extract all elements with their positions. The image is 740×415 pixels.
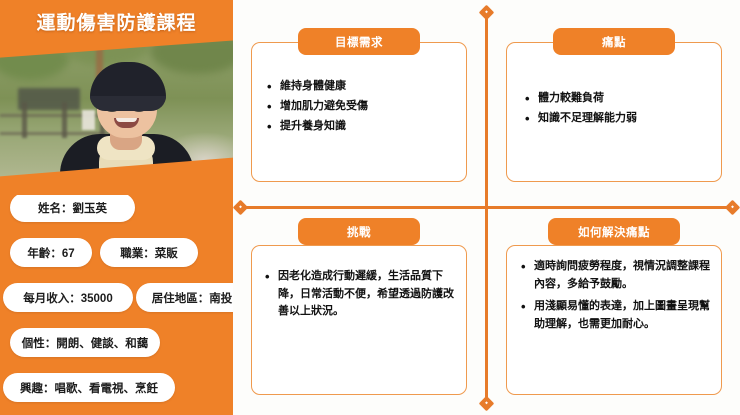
card-header-goals: 目標需求 — [298, 28, 420, 55]
persona-photo — [0, 40, 233, 195]
diamond-marker-top-icon — [479, 5, 495, 21]
card-body-goals: 維持身體健康 增加肌力避免受傷 提升養身知識 — [267, 78, 457, 138]
card-body-challenges: 因老化造成行動遲緩，生活品質下降，日常活動不便，希望透過防護改善以上狀況。 — [265, 268, 461, 326]
persona-field-hobby: 興趣：唱歌、看電視、烹飪 — [3, 373, 175, 402]
persona-field-name: 姓名：劉玉英 — [10, 193, 135, 222]
card-header-pain-points: 痛點 — [553, 28, 675, 55]
card-header-challenges: 挑戰 — [298, 218, 420, 245]
teeth-shape — [116, 118, 137, 122]
card-body-solutions: 適時詢問疲勞程度，視情況調整課程內容，多給予鼓勵。 用淺顯易懂的表達，加上圖畫呈… — [521, 258, 719, 338]
persona-field-job: 職業：菜販 — [100, 238, 198, 267]
diamond-marker-right-icon — [725, 200, 740, 216]
persona-field-region: 居住地區：南投 — [136, 283, 233, 312]
list-item: 維持身體健康 — [267, 78, 457, 95]
hat-band-shape — [90, 96, 166, 111]
list-item: 知識不足理解能力弱 — [525, 110, 715, 127]
list-item: 用淺顯易懂的表達，加上圖畫呈現幫助理解，也需更加耐心。 — [521, 298, 719, 333]
persona-panel: 運動傷害防護課程 — [0, 0, 233, 415]
pain-points-list: 體力較難負荷 知識不足理解能力弱 — [525, 90, 715, 127]
list-item: 增加肌力避免受傷 — [267, 98, 457, 115]
list-item: 提升養身知識 — [267, 118, 457, 135]
horizontal-divider — [241, 206, 732, 209]
persona-field-income: 每月收入：35000 — [3, 283, 133, 312]
list-item: 適時詢問疲勞程度，視情況調整課程內容，多給予鼓勵。 — [521, 258, 719, 293]
goals-list: 維持身體健康 增加肌力避免受傷 提升養身知識 — [267, 78, 457, 135]
challenges-list: 因老化造成行動遲緩，生活品質下降，日常活動不便，希望透過防護改善以上狀況。 — [265, 268, 461, 321]
persona-canvas: 運動傷害防護課程 — [0, 0, 740, 415]
diamond-marker-bottom-icon — [479, 396, 495, 412]
quadrant-area: 目標需求 維持身體健康 增加肌力避免受傷 提升養身知識 痛點 體力較難負荷 知識… — [233, 0, 740, 415]
diamond-marker-left-icon — [233, 200, 249, 216]
post-shape — [22, 102, 27, 138]
page-title: 運動傷害防護課程 — [0, 8, 233, 35]
card-body-pain-points: 體力較難負荷 知識不足理解能力弱 — [525, 90, 715, 130]
card-header-solutions: 如何解決痛點 — [548, 218, 680, 245]
list-item: 因老化造成行動遲緩，生活品質下降，日常活動不便，希望透過防護改善以上狀況。 — [265, 268, 461, 321]
persona-field-age: 年齡：67 — [10, 238, 92, 267]
persona-fields: 姓名：劉玉英 年齡：67 職業：菜販 每月收入：35000 居住地區：南投 個性… — [0, 190, 233, 415]
persona-field-personality: 個性：開朗、健談、和藹 — [10, 328, 160, 357]
list-item: 體力較難負荷 — [525, 90, 715, 107]
solutions-list: 適時詢問疲勞程度，視情況調整課程內容，多給予鼓勵。 用淺顯易懂的表達，加上圖畫呈… — [521, 258, 719, 333]
